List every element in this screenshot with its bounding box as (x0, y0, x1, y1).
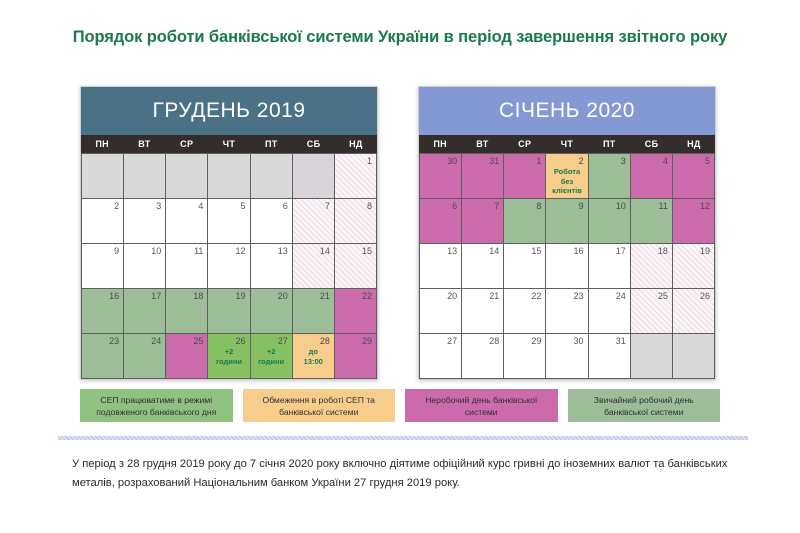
legend-label: Обмеження в роботі СЕП та банківської си… (248, 394, 391, 418)
day-cell-december-empty (166, 154, 207, 198)
day-cell-january-15: 15 (504, 244, 545, 288)
day-cell-january-3: 3 (589, 154, 630, 198)
day-number: 2 (579, 156, 584, 166)
day-number: 14 (489, 246, 499, 256)
day-number: 6 (283, 201, 288, 211)
day-cell-january-30: 30 (420, 154, 461, 198)
day-number: 31 (616, 336, 626, 346)
day-cell-december-14: 14 (293, 244, 334, 288)
day-cell-january-14: 14 (462, 244, 503, 288)
day-number: 21 (320, 291, 330, 301)
day-number: 11 (194, 246, 203, 256)
day-cell-january-18: 18 (631, 244, 672, 288)
day-number: 16 (574, 246, 584, 256)
day-cell-january-7: 7 (462, 199, 503, 243)
dow-label-january-3: ЧТ (546, 135, 588, 153)
day-number: 6 (452, 201, 457, 211)
day-number: 9 (114, 246, 119, 256)
day-number: 22 (531, 291, 541, 301)
day-cell-december-27: 27+2години (251, 334, 292, 378)
day-cell-december-empty (293, 154, 334, 198)
legend: СЕП працюватиме в режимі подовженого бан… (80, 389, 720, 422)
day-cell-december-16: 16 (82, 289, 123, 333)
day-cell-december-26: 26+2години (208, 334, 249, 378)
day-cell-december-29: 29 (335, 334, 376, 378)
day-cell-january-20: 20 (420, 289, 461, 333)
day-cell-december-empty (208, 154, 249, 198)
day-cell-december-3: 3 (124, 199, 165, 243)
day-cell-december-empty (124, 154, 165, 198)
section-divider (58, 436, 748, 440)
day-cell-january-5: 5 (673, 154, 714, 198)
day-cell-january-23: 23 (546, 289, 587, 333)
day-number: 30 (447, 156, 457, 166)
day-number: 3 (621, 156, 626, 166)
day-cell-january-11: 11 (631, 199, 672, 243)
legend-label: Неробочий день банківської системи (410, 394, 553, 418)
day-cell-january-6: 6 (420, 199, 461, 243)
day-number: 2 (114, 201, 119, 211)
day-number: 1 (367, 156, 372, 166)
day-number: 12 (700, 201, 710, 211)
day-number: 7 (325, 201, 330, 211)
day-cell-january-10: 10 (589, 199, 630, 243)
day-number: 31 (489, 156, 499, 166)
day-number: 17 (151, 291, 161, 301)
legend-label: Звичайний робочий день банківської систе… (573, 394, 716, 418)
day-number: 8 (367, 201, 372, 211)
day-number: 22 (362, 291, 372, 301)
day-cell-december-21: 21 (293, 289, 334, 333)
day-cell-january-21: 21 (462, 289, 503, 333)
day-cell-december-28: 28до13:00 (293, 334, 334, 378)
day-number: 13 (278, 246, 288, 256)
day-note: Роботабезклієнтів (546, 167, 587, 196)
day-note: до13:00 (293, 347, 334, 366)
day-cell-january-empty (631, 334, 672, 378)
day-number: 29 (531, 336, 541, 346)
day-cell-january-19: 19 (673, 244, 714, 288)
day-cell-january-22: 22 (504, 289, 545, 333)
day-cell-december-5: 5 (208, 199, 249, 243)
day-number: 18 (658, 246, 668, 256)
day-cell-december-empty (82, 154, 123, 198)
day-number: 16 (109, 291, 119, 301)
calendar-title-january: СІЧЕНЬ 2020 (419, 87, 715, 135)
day-cell-december-9: 9 (82, 244, 123, 288)
day-cell-january-31: 31 (462, 154, 503, 198)
day-note: +2години (251, 347, 292, 366)
day-number: 26 (700, 291, 710, 301)
day-number: 10 (151, 246, 161, 256)
day-cell-december-11: 11 (166, 244, 207, 288)
day-cell-december-2: 2 (82, 199, 123, 243)
day-cell-january-29: 29 (504, 334, 545, 378)
day-number: 13 (447, 246, 457, 256)
dow-label-january-6: НД (673, 135, 715, 153)
dow-label-december-1: ВТ (123, 135, 165, 153)
day-number: 10 (616, 201, 626, 211)
day-number: 28 (320, 336, 330, 346)
day-number: 21 (489, 291, 499, 301)
day-number: 29 (362, 336, 372, 346)
day-number: 11 (659, 201, 668, 211)
day-cell-january-13: 13 (420, 244, 461, 288)
day-cell-december-24: 24 (124, 334, 165, 378)
day-cell-december-17: 17 (124, 289, 165, 333)
infographic-page: Порядок роботи банківської системи Украї… (0, 0, 800, 533)
day-cell-january-empty (673, 334, 714, 378)
dow-label-january-4: ПТ (588, 135, 630, 153)
day-number: 3 (156, 201, 161, 211)
day-note: +2години (208, 347, 249, 366)
day-cell-december-25: 25 (166, 334, 207, 378)
day-cell-december-18: 18 (166, 289, 207, 333)
legend-extended-sep: СЕП працюватиме в режимі подовженого бан… (80, 389, 233, 422)
day-number: 28 (489, 336, 499, 346)
dow-label-december-4: ПТ (250, 135, 292, 153)
day-cell-december-15: 15 (335, 244, 376, 288)
dow-row-january: ПНВТСРЧТПТСБНД (419, 135, 715, 153)
day-number: 27 (278, 336, 288, 346)
day-number: 19 (236, 291, 246, 301)
dow-label-december-6: НД (335, 135, 377, 153)
day-number: 5 (241, 201, 246, 211)
day-number: 20 (278, 291, 288, 301)
day-number: 25 (658, 291, 668, 301)
day-cell-december-empty (251, 154, 292, 198)
day-number: 8 (536, 201, 541, 211)
day-cell-december-19: 19 (208, 289, 249, 333)
legend-limited-sep: Обмеження в роботі СЕП та банківської си… (243, 389, 396, 422)
day-cell-january-2: 2Роботабезклієнтів (546, 154, 587, 198)
day-number: 20 (447, 291, 457, 301)
day-cell-december-13: 13 (251, 244, 292, 288)
day-number: 23 (109, 336, 119, 346)
dow-label-january-5: СБ (630, 135, 672, 153)
day-number: 23 (574, 291, 584, 301)
day-cell-december-12: 12 (208, 244, 249, 288)
day-cell-december-22: 22 (335, 289, 376, 333)
day-number: 27 (447, 336, 457, 346)
day-number: 14 (320, 246, 330, 256)
day-cell-january-16: 16 (546, 244, 587, 288)
dow-label-december-5: СБ (292, 135, 334, 153)
dow-row-december: ПНВТСРЧТПТСБНД (81, 135, 377, 153)
day-number: 30 (574, 336, 584, 346)
day-cell-january-31: 31 (589, 334, 630, 378)
day-cell-december-23: 23 (82, 334, 123, 378)
footer-note: У період з 28 грудня 2019 року до 7 січн… (72, 455, 732, 493)
dow-label-december-3: ЧТ (208, 135, 250, 153)
day-number: 15 (362, 246, 372, 256)
day-number: 12 (236, 246, 246, 256)
calendar-december-2019: ГРУДЕНЬ 2019 ПНВТСРЧТПТСБНД 123456789101… (80, 86, 378, 380)
day-cell-december-6: 6 (251, 199, 292, 243)
day-number: 5 (705, 156, 710, 166)
day-number: 24 (151, 336, 161, 346)
page-title: Порядок роботи банківської системи Украї… (0, 28, 800, 47)
day-number: 17 (616, 246, 626, 256)
day-cell-january-4: 4 (631, 154, 672, 198)
dow-label-december-2: СР (166, 135, 208, 153)
day-cell-january-17: 17 (589, 244, 630, 288)
dow-label-january-2: СР (504, 135, 546, 153)
day-cell-january-8: 8 (504, 199, 545, 243)
day-number: 26 (236, 336, 246, 346)
day-number: 4 (663, 156, 668, 166)
dow-label-january-1: ВТ (461, 135, 503, 153)
day-number: 25 (193, 336, 203, 346)
day-number: 4 (198, 201, 203, 211)
day-number: 15 (531, 246, 541, 256)
calendar-january-2020: СІЧЕНЬ 2020 ПНВТСРЧТПТСБНД 303112Роботаб… (418, 86, 716, 380)
dow-label-december-0: ПН (81, 135, 123, 153)
day-number: 24 (616, 291, 626, 301)
dow-label-january-0: ПН (419, 135, 461, 153)
day-number: 7 (494, 201, 499, 211)
day-grid-january: 303112Роботабезклієнтів34567891011121314… (419, 153, 715, 379)
legend-label: СЕП працюватиме в режимі подовженого бан… (85, 394, 228, 418)
day-cell-january-1: 1 (504, 154, 545, 198)
day-cell-december-4: 4 (166, 199, 207, 243)
day-grid-december: 1234567891011121314151617181920212223242… (81, 153, 377, 379)
day-cell-january-27: 27 (420, 334, 461, 378)
day-cell-december-20: 20 (251, 289, 292, 333)
day-cell-january-30: 30 (546, 334, 587, 378)
day-cell-december-8: 8 (335, 199, 376, 243)
day-number: 1 (536, 156, 541, 166)
day-cell-december-1: 1 (335, 154, 376, 198)
day-number: 18 (193, 291, 203, 301)
day-cell-december-10: 10 (124, 244, 165, 288)
day-cell-january-26: 26 (673, 289, 714, 333)
day-cell-january-24: 24 (589, 289, 630, 333)
day-number: 9 (579, 201, 584, 211)
legend-nonworking: Неробочий день банківської системи (405, 389, 558, 422)
day-cell-january-25: 25 (631, 289, 672, 333)
calendar-title-december: ГРУДЕНЬ 2019 (81, 87, 377, 135)
day-cell-january-28: 28 (462, 334, 503, 378)
day-cell-january-9: 9 (546, 199, 587, 243)
day-cell-december-7: 7 (293, 199, 334, 243)
legend-normal: Звичайний робочий день банківської систе… (568, 389, 721, 422)
day-number: 19 (700, 246, 710, 256)
day-cell-january-12: 12 (673, 199, 714, 243)
